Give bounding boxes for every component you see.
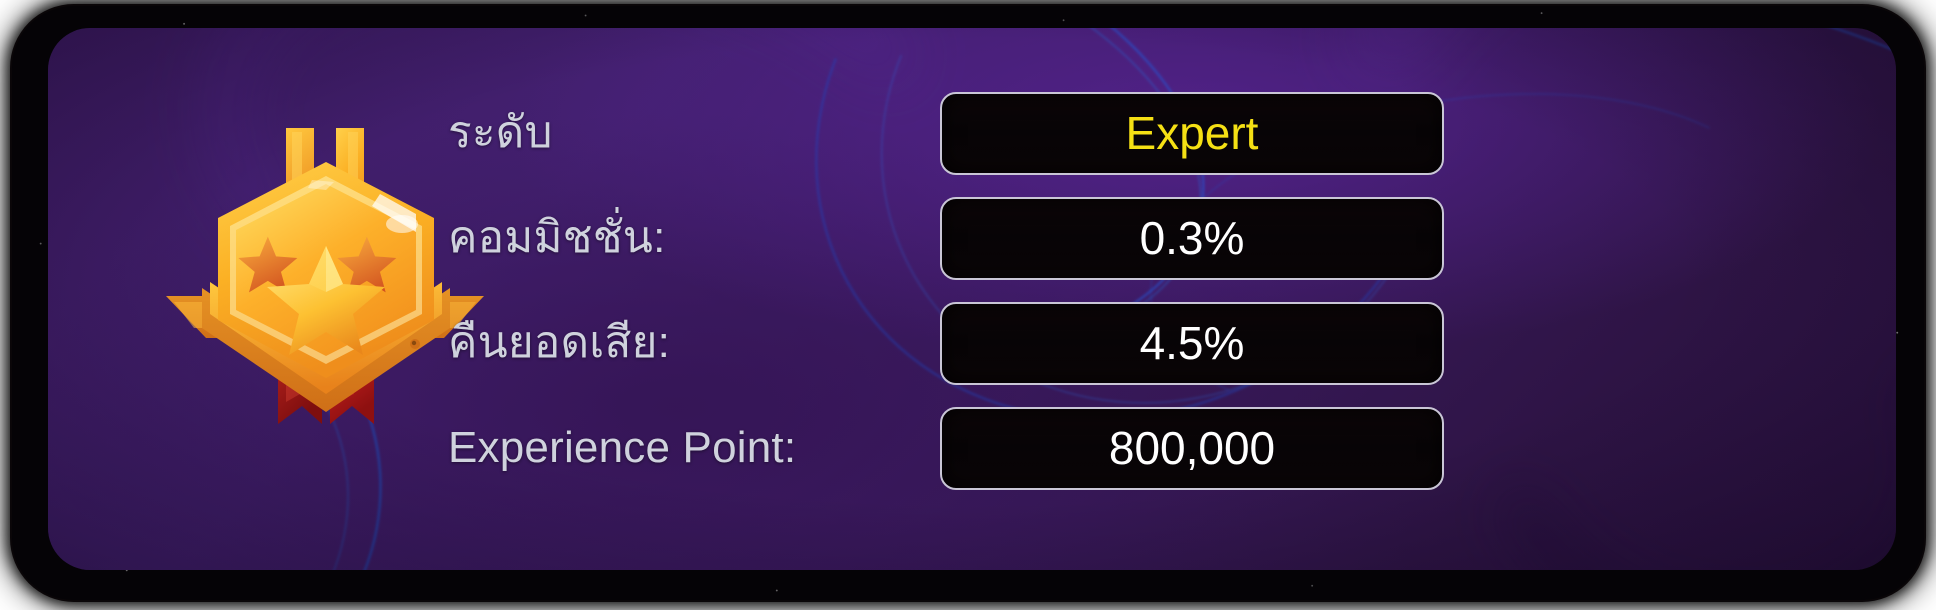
- stat-value-box-experience-point[interactable]: 800,000: [940, 407, 1444, 490]
- stat-label-experience-point: Experience Point:: [448, 426, 940, 470]
- stat-value-box-commission[interactable]: 0.3%: [940, 197, 1444, 280]
- stat-row-experience-point: Experience Point: 800,000: [448, 407, 1698, 489]
- rank-card-frame: ระดับ Expert คอมมิชชั่น: 0.3% คืนยอดเสีย…: [12, 6, 1924, 600]
- stat-label-commission: คอมมิชชั่น:: [448, 216, 940, 260]
- rank-card-panel: ระดับ Expert คอมมิชชั่น: 0.3% คืนยอดเสีย…: [48, 28, 1896, 570]
- stat-value-commission: 0.3%: [1140, 215, 1245, 261]
- stat-value-cashback: 4.5%: [1140, 320, 1245, 366]
- stat-row-commission: คอมมิชชั่น: 0.3%: [448, 197, 1698, 279]
- stat-value-rank: Expert: [1126, 110, 1259, 156]
- stat-value-box-rank[interactable]: Expert: [940, 92, 1444, 175]
- stat-label-cashback: คืนยอดเสีย:: [448, 321, 940, 365]
- stat-row-cashback: คืนยอดเสีย: 4.5%: [448, 302, 1698, 384]
- stat-label-rank: ระดับ: [448, 111, 940, 155]
- stat-row-rank: ระดับ Expert: [448, 92, 1698, 174]
- stat-value-box-cashback[interactable]: 4.5%: [940, 302, 1444, 385]
- gold-rank-medal-badge-icon: [166, 106, 486, 436]
- stats-rows: ระดับ Expert คอมมิชชั่น: 0.3% คืนยอดเสีย…: [448, 92, 1698, 512]
- stat-value-experience-point: 800,000: [1109, 425, 1275, 471]
